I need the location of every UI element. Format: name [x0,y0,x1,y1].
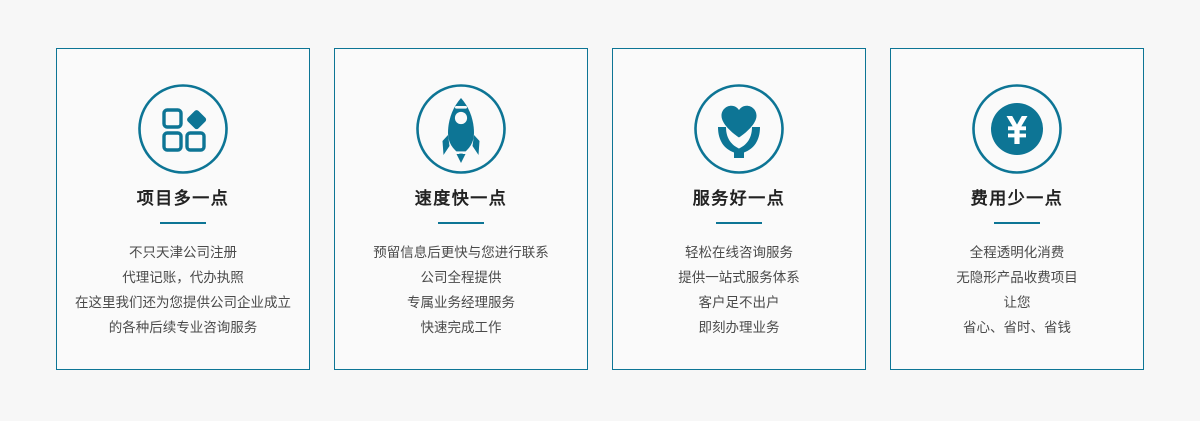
description-line: 的各种后续专业咨询服务 [75,315,291,340]
card-title: 项目多一点 [137,189,230,209]
title-divider [438,222,484,224]
card-title: 速度快一点 [415,189,508,209]
heart-hands-icon [693,83,785,175]
description-line: 专属业务经理服务 [373,290,549,315]
rocket-icon [415,83,507,175]
yuan-currency-icon [971,83,1063,175]
card-description: 轻松在线咨询服务 提供一站式服务体系 客户足不出户 即刻办理业务 [670,240,808,340]
description-line: 省心、省时、省钱 [956,315,1078,340]
feature-cards-row: 项目多一点 不只天津公司注册 代理记账，代办执照 在这里我们还为您提供公司企业成… [0,0,1200,421]
title-divider [160,222,206,224]
description-line: 让您 [956,290,1078,315]
feature-card-projects[interactable]: 项目多一点 不只天津公司注册 代理记账，代办执照 在这里我们还为您提供公司企业成… [56,48,310,370]
description-line: 即刻办理业务 [678,315,800,340]
feature-card-speed[interactable]: 速度快一点 预留信息后更快与您进行联系 公司全程提供 专属业务经理服务 快速完成… [334,48,588,370]
feature-card-service[interactable]: 服务好一点 轻松在线咨询服务 提供一站式服务体系 客户足不出户 即刻办理业务 [612,48,866,370]
description-line: 公司全程提供 [373,265,549,290]
description-line: 提供一站式服务体系 [678,265,800,290]
description-line: 轻松在线咨询服务 [678,240,800,265]
card-description: 不只天津公司注册 代理记账，代办执照 在这里我们还为您提供公司企业成立 的各种后… [67,240,299,340]
card-title: 服务好一点 [693,189,786,209]
card-title: 费用少一点 [971,189,1064,209]
card-description: 全程透明化消费 无隐形产品收费项目 让您 省心、省时、省钱 [948,240,1086,340]
description-line: 在这里我们还为您提供公司企业成立 [75,290,291,315]
title-divider [994,222,1040,224]
description-line: 无隐形产品收费项目 [956,265,1078,290]
description-line: 预留信息后更快与您进行联系 [373,240,549,265]
description-line: 代理记账，代办执照 [75,265,291,290]
description-line: 全程透明化消费 [956,240,1078,265]
description-line: 快速完成工作 [373,315,549,340]
title-divider [716,222,762,224]
description-line: 不只天津公司注册 [75,240,291,265]
card-description: 预留信息后更快与您进行联系 公司全程提供 专属业务经理服务 快速完成工作 [365,240,557,340]
grid-diamond-icon [137,83,229,175]
description-line: 客户足不出户 [678,290,800,315]
feature-card-cost[interactable]: 费用少一点 全程透明化消费 无隐形产品收费项目 让您 省心、省时、省钱 [890,48,1144,370]
